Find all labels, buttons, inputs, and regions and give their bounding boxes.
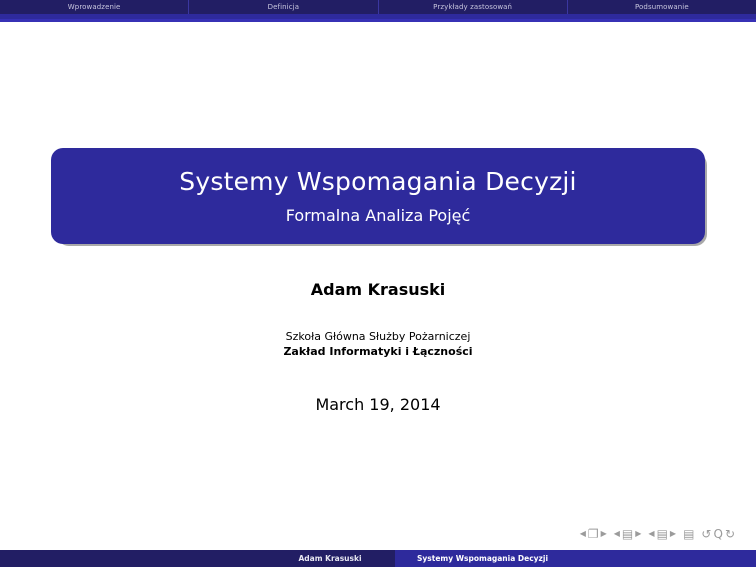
slide-nav-group[interactable]: ◀ ❐ ▶ bbox=[580, 528, 607, 540]
nav-item-przyklady-zastosowan[interactable]: Przykłady zastosowań bbox=[379, 0, 567, 14]
document-nav-group[interactable]: ↺ Q ↻ bbox=[701, 528, 735, 540]
slide-prev-icon[interactable]: ◀ bbox=[580, 528, 586, 540]
institution-line-1: Szkoła Główna Służby Pożarniczej bbox=[0, 329, 756, 344]
subsection-prev-icon[interactable]: ◀ bbox=[648, 528, 654, 540]
forward-icon[interactable]: ↻ bbox=[725, 528, 735, 540]
subsection-icon[interactable]: ▤ bbox=[657, 528, 668, 540]
nav-item-podsumowanie[interactable]: Podsumowanie bbox=[568, 0, 756, 14]
frame-prev-icon[interactable]: ◀ bbox=[614, 528, 620, 540]
section-nav-group[interactable]: ▤ bbox=[683, 528, 694, 540]
author-name: Adam Krasuski bbox=[0, 280, 756, 300]
subsection-next-icon[interactable]: ▶ bbox=[670, 528, 676, 540]
footer-author: Adam Krasuski bbox=[265, 550, 395, 567]
slide-next-icon[interactable]: ▶ bbox=[601, 528, 607, 540]
frame-nav-group[interactable]: ◀ ▤ ▶ bbox=[614, 528, 642, 540]
footer-spacer bbox=[0, 550, 265, 567]
nav-accent-band-light bbox=[0, 19, 756, 22]
back-icon[interactable]: ↺ bbox=[701, 528, 711, 540]
footer-bar: Adam Krasuski Systemy Wspomagania Decyzj… bbox=[0, 550, 756, 567]
title-page-details: Adam Krasuski Szkoła Główna Służby Pożar… bbox=[0, 280, 756, 415]
title-box: Systemy Wspomagania Decyzji Formalna Ana… bbox=[51, 148, 705, 244]
search-icon[interactable]: Q bbox=[713, 528, 722, 540]
section-icon[interactable]: ▤ bbox=[683, 528, 694, 540]
frame-next-icon[interactable]: ▶ bbox=[635, 528, 641, 540]
nav-item-definicja[interactable]: Definicja bbox=[189, 0, 377, 14]
footer-title: Systemy Wspomagania Decyzji bbox=[395, 550, 756, 567]
slide-icon[interactable]: ❐ bbox=[588, 528, 599, 540]
section-navigation-bar: Wprowadzenie Definicja Przykłady zastoso… bbox=[0, 0, 756, 14]
beamer-navigation-symbols[interactable]: ◀ ❐ ▶ ◀ ▤ ▶ ◀ ▤ ▶ ▤ ↺ Q ↻ bbox=[580, 528, 742, 540]
presentation-title: Systemy Wspomagania Decyzji bbox=[179, 167, 576, 197]
institution-line-2: Zakład Informatyki i Łączności bbox=[0, 344, 756, 359]
frame-icon[interactable]: ▤ bbox=[622, 528, 633, 540]
presentation-subtitle: Formalna Analiza Pojęć bbox=[286, 206, 471, 225]
presentation-date: March 19, 2014 bbox=[0, 395, 756, 415]
nav-item-wprowadzenie[interactable]: Wprowadzenie bbox=[0, 0, 188, 14]
subsection-nav-group[interactable]: ◀ ▤ ▶ bbox=[648, 528, 676, 540]
